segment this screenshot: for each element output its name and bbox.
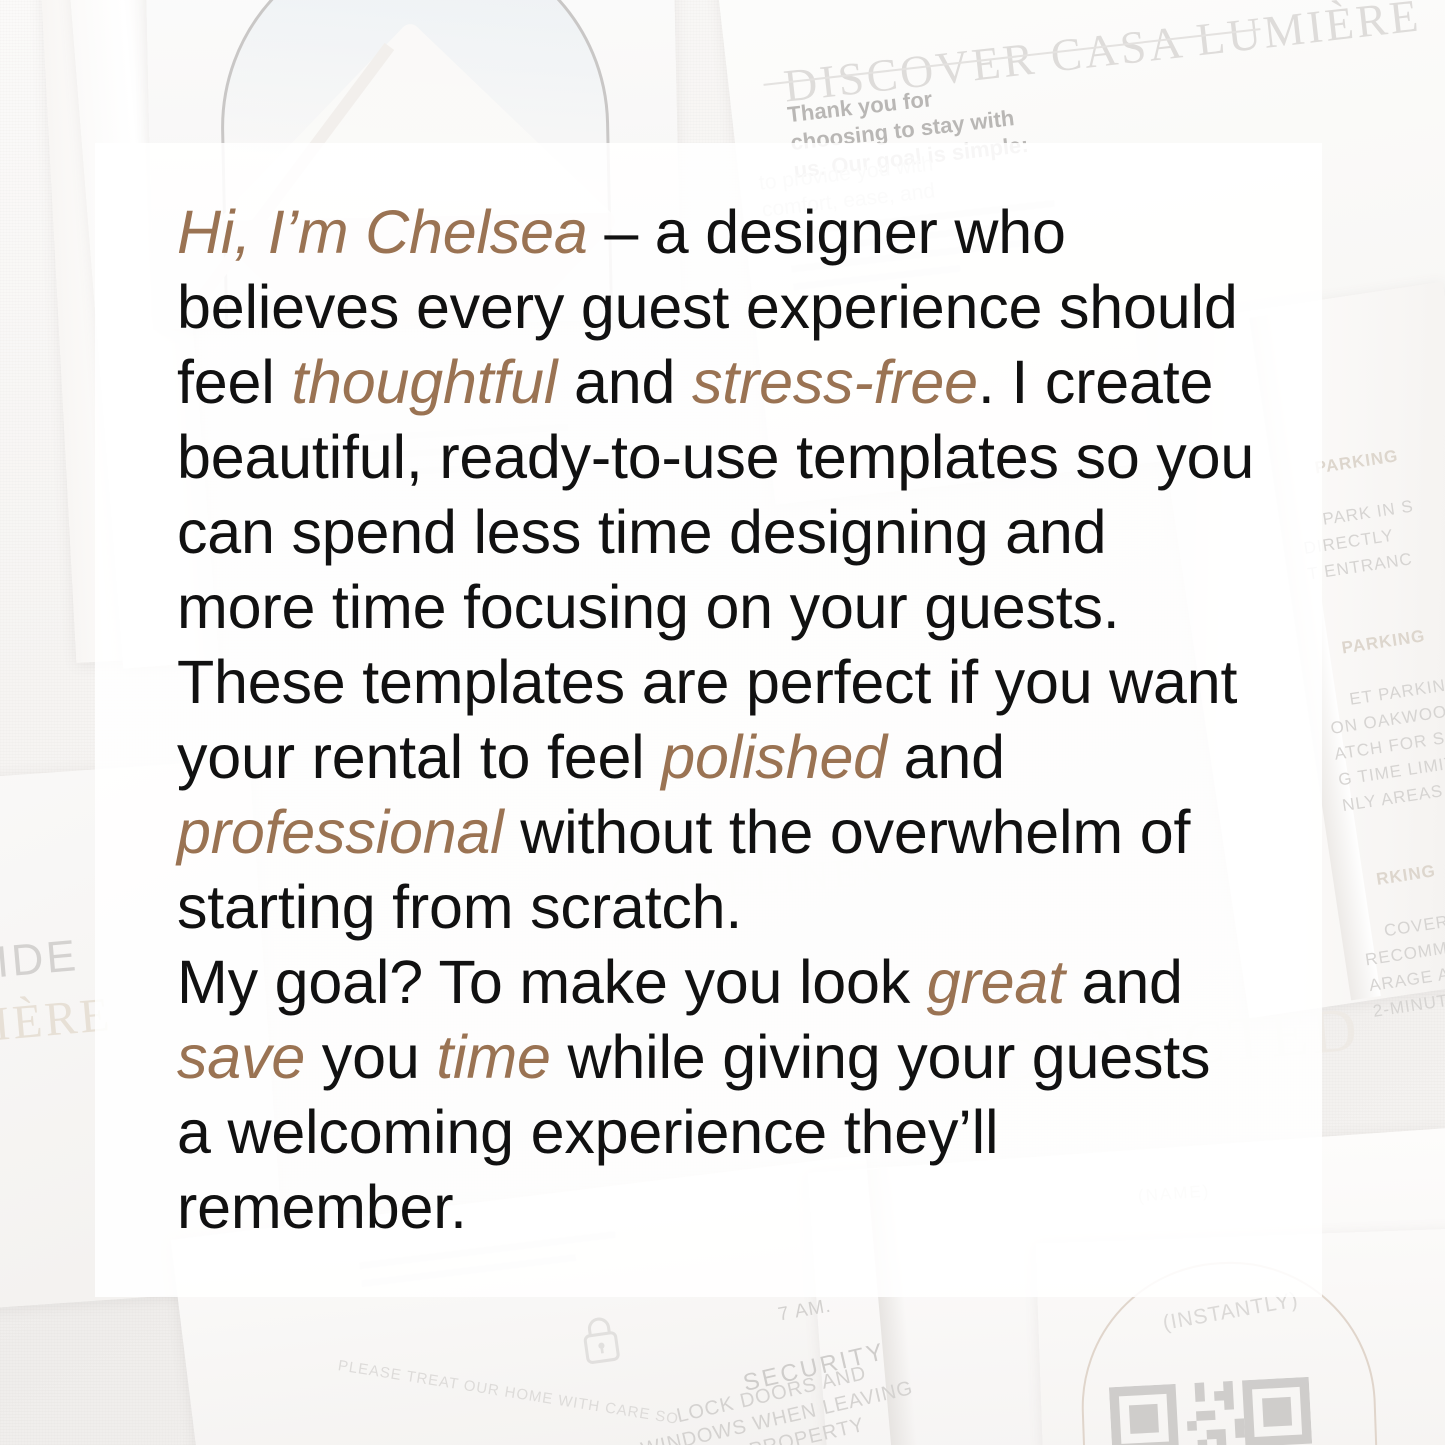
body-phrase: and <box>557 348 692 416</box>
welcome-template-promo-image: DISCOVER CASA LUMIÈRE Thank you for choo… <box>0 0 1445 1445</box>
accent-phrase: time <box>436 1023 550 1091</box>
accent-phrase: great <box>927 948 1065 1016</box>
accent-phrase: stress-free <box>692 348 978 416</box>
intro-paragraph: My goal? To make you look great and save… <box>177 945 1255 1245</box>
accent-phrase: Hi, I’m Chelsea <box>177 198 588 266</box>
accent-phrase: save <box>177 1023 305 1091</box>
qr-code-icon <box>1109 1377 1319 1445</box>
intro-copy-text: Hi, I’m Chelsea – a designer who believe… <box>177 195 1255 1245</box>
intro-paragraph: Hi, I’m Chelsea – a designer who believe… <box>177 195 1255 945</box>
text-overlay-card: Hi, I’m Chelsea – a designer who believe… <box>95 143 1322 1297</box>
body-phrase: My goal? To make you look <box>177 948 927 1016</box>
body-phrase: and <box>887 723 1005 791</box>
accent-phrase: professional <box>177 798 504 866</box>
accent-phrase: thoughtful <box>291 348 557 416</box>
lock-icon <box>574 1309 628 1376</box>
accent-phrase: polished <box>661 723 887 791</box>
body-phrase: and <box>1065 948 1183 1016</box>
body-phrase: you <box>305 1023 436 1091</box>
